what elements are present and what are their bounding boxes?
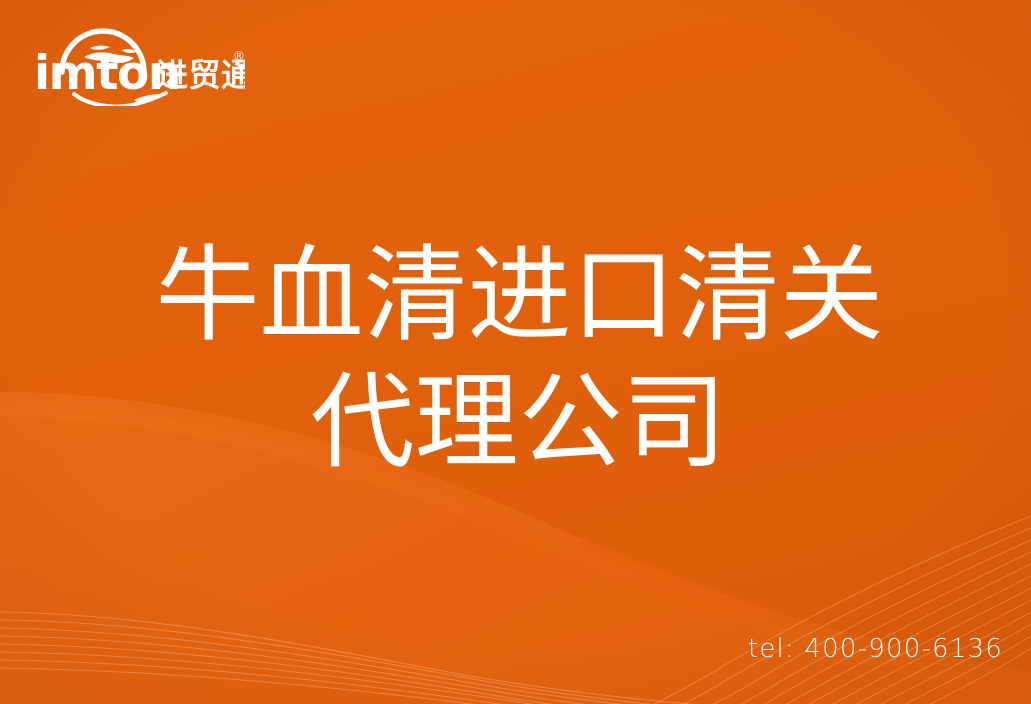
headline-line-1: 牛血清进口清关 xyxy=(0,232,1031,359)
headline-line-2: 代理公司 xyxy=(0,359,1031,486)
promo-banner: imton 进贸通 ® 牛血清进口清关 代理公司 tel: 400-900-61… xyxy=(0,0,1031,704)
trademark-icon: ® xyxy=(233,49,245,63)
logo-wordmark-cn: 进贸通 xyxy=(156,56,245,94)
brand-logo[interactable]: imton 进贸通 ® xyxy=(30,28,245,106)
contact-phone[interactable]: tel: 400-900-6136 xyxy=(748,634,1003,664)
headline: 牛血清进口清关 代理公司 xyxy=(0,232,1031,486)
